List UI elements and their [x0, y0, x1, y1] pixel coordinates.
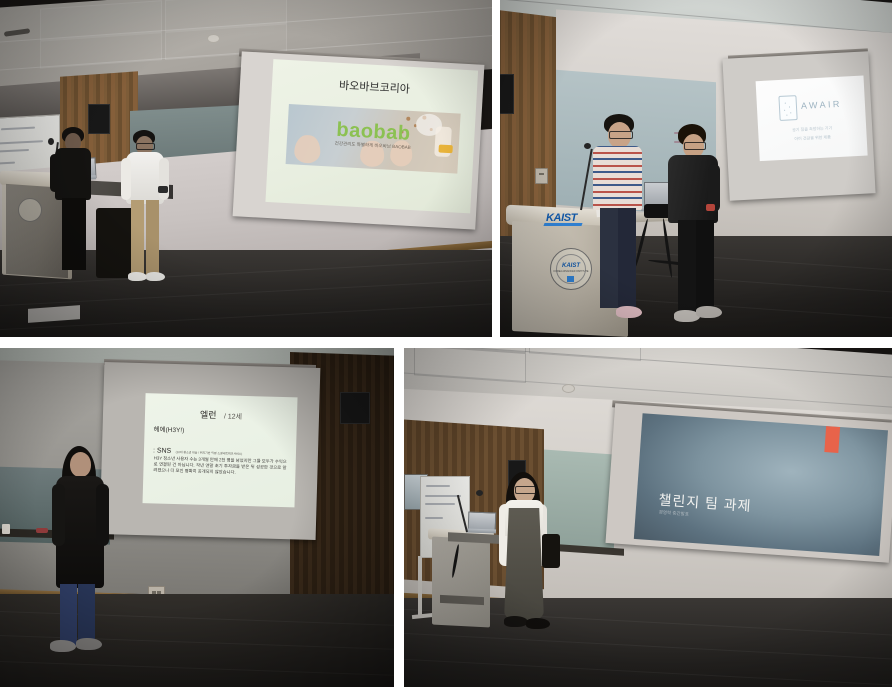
bag: [542, 534, 560, 568]
projection-screen: 챌린지 팀 과제 경영학 중간발표: [605, 403, 892, 562]
slide-line-1: 헤에(H3Y!): [153, 423, 184, 434]
awair-wordmark: AWAIR: [801, 99, 842, 111]
eraser: [2, 524, 10, 534]
kaist-seal-text: KAIST: [551, 263, 591, 269]
slide-title-age: / 12세: [224, 413, 242, 421]
baobab-banner: baobab 건강관리도 특별하게 바오바브 BAOBAB: [286, 104, 461, 174]
slide-title: 엘런: [200, 410, 217, 420]
wall-speaker: [500, 74, 514, 114]
slide-line-2-small: (10대 청소년 대상 / 위치기반 익명 소셜네트워크서비스): [176, 450, 243, 456]
photo-top-left: 바오바브코리아 baobab 건강관리도 특별하게 바오바브 BAOBAB: [0, 0, 492, 337]
presenter-remote: [706, 204, 715, 211]
podium: [432, 536, 490, 627]
photo-top-right: AWAIR 공기 질을 측정하는 기기 아이 건강을 위한 제품 KAIST K…: [500, 0, 892, 337]
slide-h3y: 엘런 / 12세 헤에(H3Y!) : SNS (10대 청소년 대상 / 위치…: [143, 393, 298, 507]
photo-grid: 바오바브코리아 baobab 건강관리도 특별하게 바오바브 BAOBAB: [0, 0, 892, 687]
kaist-wordmark-underline: [543, 223, 582, 226]
microphone-head: [48, 138, 54, 145]
smoke-detector-icon: [207, 34, 220, 43]
photo-bottom-right: 챌린지 팀 과제 경영학 중간발표: [404, 348, 892, 687]
slide-line-2-label: : SNS: [153, 447, 171, 455]
slide-paragraph: H3Y 청소년 사용자 수는 3개월 만에 2천 명을 넘었지만 그들 모두가 …: [153, 455, 286, 477]
photo-bottom-left: 엘런 / 12세 헤에(H3Y!) : SNS (10대 청소년 대상 / 위치…: [0, 348, 394, 687]
microphone-head: [584, 143, 591, 149]
slide-accent-bar: [824, 426, 840, 453]
projection-screen: 바오바브코리아 baobab 건강관리도 특별하게 바오바브 BAOBAB: [233, 51, 485, 229]
whiteboard-stand-left: [418, 556, 422, 618]
pinafore-dress: [504, 508, 544, 620]
smoke-detector-icon: [562, 384, 575, 393]
slide-title: 바오바브코리아: [272, 73, 478, 100]
kaist-seal: KAIST KOREA ADVANCED INSTITUTE: [550, 248, 592, 290]
power-outlet-left: [535, 168, 548, 184]
slide-subtitle: 경영학 중간발표: [659, 510, 690, 518]
slide-baobab: 바오바브코리아 baobab 건강관리도 특별하게 바오바브 BAOBAB: [265, 59, 478, 213]
projection-screen: 엘런 / 12세 헤에(H3Y!) : SNS (10대 청소년 대상 / 위치…: [100, 362, 321, 540]
wall-speaker: [88, 104, 110, 134]
microphone-head: [476, 490, 483, 496]
slide-challenge: 챌린지 팀 과제 경영학 중간발표: [634, 413, 888, 556]
marker: [36, 528, 48, 533]
slide-awair: AWAIR 공기 질을 측정하는 기기 아이 건강을 위한 제품: [756, 76, 868, 162]
projection-screen: AWAIR 공기 질을 측정하는 기기 아이 건강을 위한 제품: [722, 51, 875, 200]
wall-speaker: [340, 392, 370, 424]
podium-seal: [18, 198, 42, 222]
awair-device-icon: [778, 95, 797, 121]
